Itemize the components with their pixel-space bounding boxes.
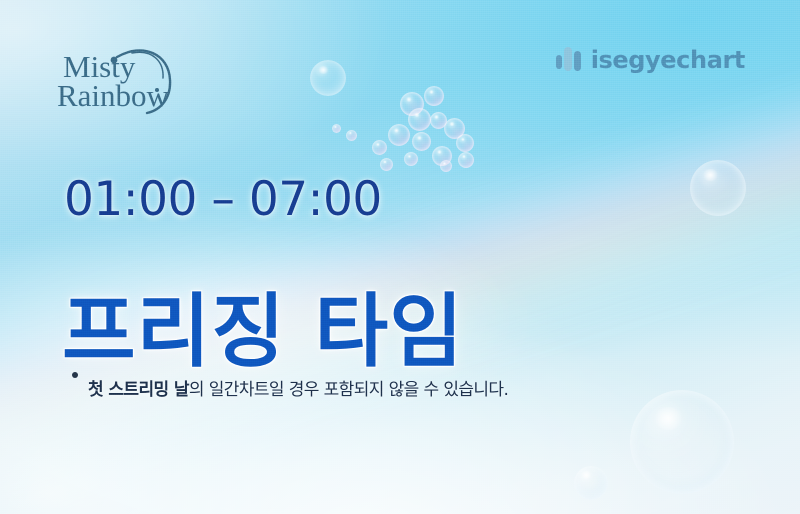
vignette-overlay: [0, 0, 800, 514]
freezing-time-banner: Misty Rainbow isegyechart 01:00 – 07:00 …: [0, 0, 800, 514]
